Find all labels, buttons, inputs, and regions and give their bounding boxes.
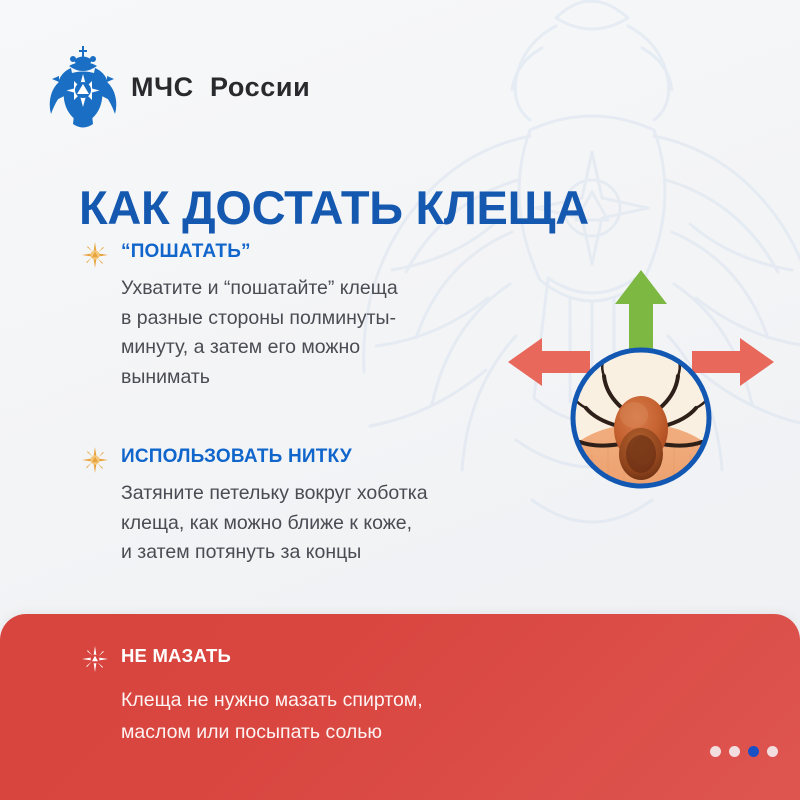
arrow-right-icon bbox=[692, 338, 774, 386]
tick-removal-diagram bbox=[500, 258, 782, 508]
section-body: Ухватите и “пошатайте” клеща в разные ст… bbox=[121, 274, 512, 393]
brand-header: МЧС России bbox=[49, 44, 310, 130]
brand-name: МЧС России bbox=[131, 72, 310, 103]
arrow-up-icon bbox=[615, 270, 667, 352]
compass-star-icon bbox=[82, 646, 108, 672]
section-heading: НЕ МАЗАТЬ bbox=[121, 645, 562, 667]
tick-on-skin-illustration bbox=[560, 350, 722, 508]
pager-dot[interactable] bbox=[729, 746, 740, 757]
section-thread: ИСПОЛЬЗОВАТЬ НИТКУ Затяните петельку вок… bbox=[82, 446, 542, 568]
pager-dots[interactable] bbox=[710, 746, 778, 757]
section-heading: “ПОШАТАТЬ” bbox=[121, 241, 512, 264]
section-shake: “ПОШАТАТЬ” Ухватите и “пошатайте” клеща … bbox=[82, 241, 512, 393]
section-body: Клеща не нужно мазать спиртом, маслом ил… bbox=[121, 685, 562, 748]
section-do-not-smear: НЕ МАЗАТЬ Клеща не нужно мазать спиртом,… bbox=[82, 645, 562, 748]
arrow-left-icon bbox=[508, 338, 590, 386]
compass-star-icon bbox=[82, 447, 108, 473]
mchs-eagle-emblem-icon bbox=[49, 44, 117, 130]
section-heading: ИСПОЛЬЗОВАТЬ НИТКУ bbox=[121, 446, 542, 469]
pager-dot[interactable] bbox=[710, 746, 721, 757]
pager-dot-active[interactable] bbox=[748, 746, 759, 757]
pager-dot[interactable] bbox=[767, 746, 778, 757]
section-body: Затяните петельку вокруг хоботка клеща, … bbox=[121, 479, 542, 568]
infographic-poster: МЧС России КАК ДОСТАТЬ КЛЕЩА “ПОШАТАТЬ” … bbox=[0, 0, 800, 800]
compass-star-icon bbox=[82, 242, 108, 268]
page-title: КАК ДОСТАТЬ КЛЕЩА bbox=[79, 183, 589, 232]
